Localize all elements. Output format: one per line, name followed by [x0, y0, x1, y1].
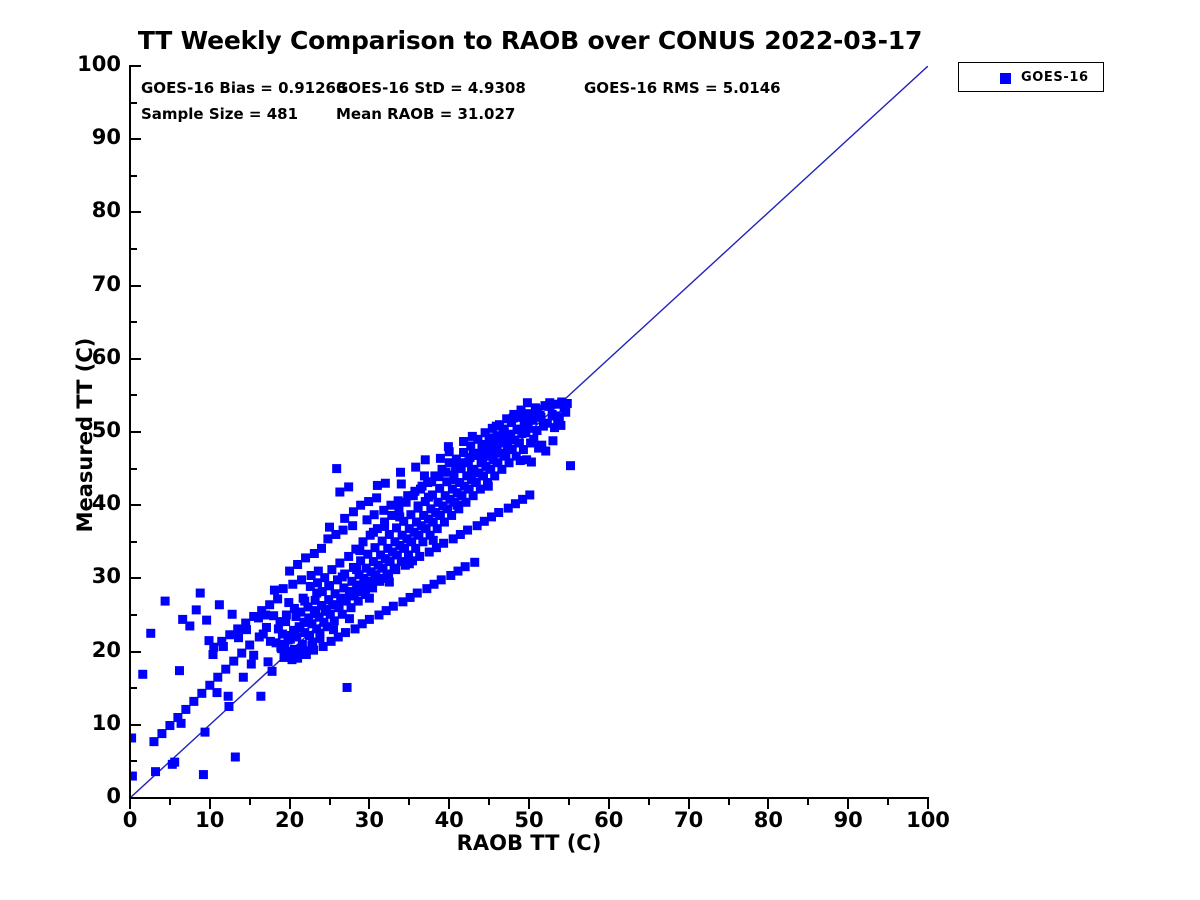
data-point — [467, 466, 476, 475]
data-point — [414, 501, 423, 510]
data-point — [566, 461, 575, 470]
legend-label-goes-16: GOES-16 — [1021, 70, 1089, 85]
data-point — [372, 493, 381, 502]
data-point — [348, 521, 357, 530]
data-point — [157, 729, 166, 738]
data-point — [262, 623, 271, 632]
data-point — [327, 565, 336, 574]
legend[interactable]: GOES-16 — [958, 62, 1104, 92]
data-point — [469, 449, 478, 458]
data-point — [380, 522, 389, 531]
data-point — [245, 641, 254, 650]
data-point — [270, 586, 279, 595]
y-tick-major — [131, 358, 141, 360]
data-point — [233, 624, 242, 633]
data-point — [273, 594, 282, 603]
data-point — [478, 457, 487, 466]
data-point — [343, 683, 352, 692]
data-point — [237, 649, 246, 658]
data-point — [257, 606, 266, 615]
x-tick-minor — [169, 799, 171, 805]
data-point — [339, 526, 348, 535]
data-point — [352, 565, 361, 574]
page-title: TT Weekly Comparison to RAOB over CONUS … — [130, 26, 930, 55]
data-point — [197, 689, 206, 698]
data-point — [369, 528, 378, 537]
data-point — [321, 605, 330, 614]
x-tick-label: 70 — [649, 808, 729, 832]
data-point — [541, 447, 550, 456]
data-point — [215, 600, 224, 609]
data-point — [192, 605, 201, 614]
data-point — [561, 408, 570, 417]
data-point — [234, 633, 243, 642]
data-point — [525, 490, 534, 499]
data-point — [370, 510, 379, 519]
data-point — [213, 673, 222, 682]
data-point — [470, 558, 479, 567]
data-point — [130, 772, 137, 781]
data-point — [247, 660, 256, 669]
y-tick-major — [131, 431, 141, 433]
legend-marker-goes-16 — [1000, 73, 1011, 84]
y-tick-major — [131, 724, 141, 726]
y-tick-minor — [131, 175, 137, 177]
data-point — [367, 578, 376, 587]
data-point — [521, 420, 530, 429]
data-point — [389, 602, 398, 611]
x-tick-minor — [329, 799, 331, 805]
y-axis-label: Measured TT (C) — [73, 135, 97, 735]
data-point — [268, 667, 277, 676]
data-point — [494, 508, 503, 517]
data-point — [563, 399, 572, 408]
data-point — [256, 692, 265, 701]
y-tick-major — [131, 577, 141, 579]
data-point — [249, 651, 258, 660]
y-tick-major — [131, 211, 141, 213]
data-point — [418, 482, 427, 491]
data-point — [199, 770, 208, 779]
data-point — [324, 581, 333, 590]
data-point — [493, 447, 502, 456]
y-tick-minor — [131, 321, 137, 323]
data-point — [355, 546, 364, 555]
data-point — [552, 411, 561, 420]
x-tick-label: 100 — [888, 808, 968, 832]
data-point — [442, 468, 451, 477]
x-axis-label: RAOB TT (C) — [130, 831, 928, 855]
x-tick-label: 40 — [409, 808, 489, 832]
data-point — [335, 488, 344, 497]
data-point — [391, 565, 400, 574]
x-tick-minor — [249, 799, 251, 805]
data-point — [225, 630, 234, 639]
plot-area — [130, 66, 928, 798]
data-point — [330, 616, 339, 625]
data-point — [468, 432, 477, 441]
y-tick-minor — [131, 102, 137, 104]
data-point — [509, 414, 518, 423]
data-point — [312, 589, 321, 598]
data-point — [453, 501, 462, 510]
scatter-canvas — [130, 66, 928, 798]
data-point — [279, 584, 288, 593]
data-point — [161, 597, 170, 606]
y-tick-major — [131, 285, 141, 287]
data-point — [340, 514, 349, 523]
x-tick-label: 0 — [90, 808, 170, 832]
data-point — [492, 422, 501, 431]
data-point — [395, 512, 404, 521]
scatter-plot-figure: TT Weekly Comparison to RAOB over CONUS … — [0, 0, 1200, 900]
data-points — [130, 397, 575, 780]
data-point — [217, 637, 226, 646]
data-point — [181, 705, 190, 714]
data-point — [336, 596, 345, 605]
data-point — [424, 493, 433, 502]
data-point — [307, 571, 316, 580]
data-point — [173, 713, 182, 722]
data-point — [345, 614, 354, 623]
data-point — [548, 436, 557, 445]
data-point — [293, 560, 302, 569]
data-point — [332, 464, 341, 473]
data-point — [381, 479, 390, 488]
data-point — [405, 559, 414, 568]
data-point — [459, 437, 468, 446]
data-point — [149, 737, 158, 746]
data-point — [146, 629, 155, 638]
data-point — [205, 681, 214, 690]
data-point — [544, 402, 553, 411]
data-point — [373, 481, 382, 490]
data-point — [385, 578, 394, 587]
y-tick-minor — [131, 687, 137, 689]
data-point — [463, 526, 472, 535]
data-point — [429, 536, 438, 545]
data-point — [529, 435, 538, 444]
data-point — [239, 673, 248, 682]
y-tick-minor — [131, 468, 137, 470]
data-point — [224, 702, 233, 711]
data-point — [196, 589, 205, 598]
x-tick-label: 90 — [808, 808, 888, 832]
data-point — [507, 436, 516, 445]
y-tick-minor — [131, 614, 137, 616]
y-tick-major — [131, 797, 141, 799]
data-point — [415, 552, 424, 561]
data-point — [485, 433, 494, 442]
y-tick-minor — [131, 541, 137, 543]
data-point — [201, 728, 210, 737]
data-point — [439, 539, 448, 548]
y-tick-minor — [131, 394, 137, 396]
data-point — [527, 458, 536, 467]
data-point — [319, 642, 328, 651]
x-tick-label: 50 — [489, 808, 569, 832]
y-tick-label: 100 — [31, 52, 121, 76]
x-tick-minor — [568, 799, 570, 805]
data-point — [209, 643, 218, 652]
x-tick-minor — [728, 799, 730, 805]
data-point — [189, 697, 198, 706]
data-point — [520, 411, 529, 420]
data-point — [444, 442, 453, 451]
data-point — [255, 632, 264, 641]
data-point — [221, 665, 230, 674]
data-point — [241, 619, 250, 628]
data-point — [175, 666, 184, 675]
y-tick-label: 0 — [31, 784, 121, 808]
data-point — [365, 615, 374, 624]
data-point — [523, 398, 532, 407]
data-point — [249, 612, 258, 621]
data-point — [501, 449, 510, 458]
data-point — [394, 496, 403, 505]
data-point — [344, 482, 353, 491]
data-point — [329, 625, 338, 634]
data-point — [556, 421, 565, 430]
data-point — [276, 617, 285, 626]
y-tick-major — [131, 651, 141, 653]
data-point — [338, 572, 347, 581]
data-point — [533, 405, 542, 414]
x-tick-label: 20 — [250, 808, 330, 832]
data-point — [301, 553, 310, 562]
data-point — [285, 567, 294, 576]
y-tick-minor — [131, 760, 137, 762]
data-point — [202, 616, 211, 625]
x-tick-minor — [648, 799, 650, 805]
data-point — [421, 455, 430, 464]
data-point — [229, 657, 238, 666]
data-point — [413, 589, 422, 598]
x-tick-label: 60 — [569, 808, 649, 832]
data-point — [185, 621, 194, 630]
y-tick-major — [131, 504, 141, 506]
data-point — [323, 534, 332, 543]
data-point — [298, 647, 307, 656]
data-point — [397, 479, 406, 488]
data-point — [228, 610, 237, 619]
x-tick-minor — [887, 799, 889, 805]
data-point — [170, 758, 179, 767]
data-point — [449, 475, 458, 484]
data-point — [365, 594, 374, 603]
y-tick-major — [131, 65, 141, 67]
data-point — [231, 753, 240, 762]
data-point — [335, 559, 344, 568]
data-point — [311, 609, 320, 618]
data-point — [436, 454, 445, 463]
data-point — [420, 471, 429, 480]
data-point — [364, 497, 373, 506]
x-tick-minor — [488, 799, 490, 805]
data-point — [265, 600, 274, 609]
data-point — [325, 523, 334, 532]
data-point — [310, 549, 319, 558]
data-point — [461, 562, 470, 571]
data-point — [396, 468, 405, 477]
y-tick-minor — [131, 248, 137, 250]
data-point — [165, 721, 174, 730]
data-point — [151, 767, 160, 776]
x-tick-label: 10 — [170, 808, 250, 832]
x-tick-minor — [408, 799, 410, 805]
data-point — [300, 597, 309, 606]
data-point — [484, 482, 493, 491]
data-point — [516, 456, 525, 465]
data-point — [288, 580, 297, 589]
data-point — [341, 628, 350, 637]
data-point — [224, 692, 233, 701]
y-tick-major — [131, 138, 141, 140]
x-tick-label: 80 — [728, 808, 808, 832]
data-point — [307, 641, 316, 650]
data-point — [437, 575, 446, 584]
data-point — [290, 604, 299, 613]
data-point — [356, 501, 365, 510]
x-tick-minor — [807, 799, 809, 805]
data-point — [411, 463, 420, 472]
data-point — [297, 575, 306, 584]
data-point — [264, 657, 273, 666]
x-tick-label: 30 — [329, 808, 409, 832]
data-point — [315, 634, 324, 643]
data-point — [138, 670, 147, 679]
